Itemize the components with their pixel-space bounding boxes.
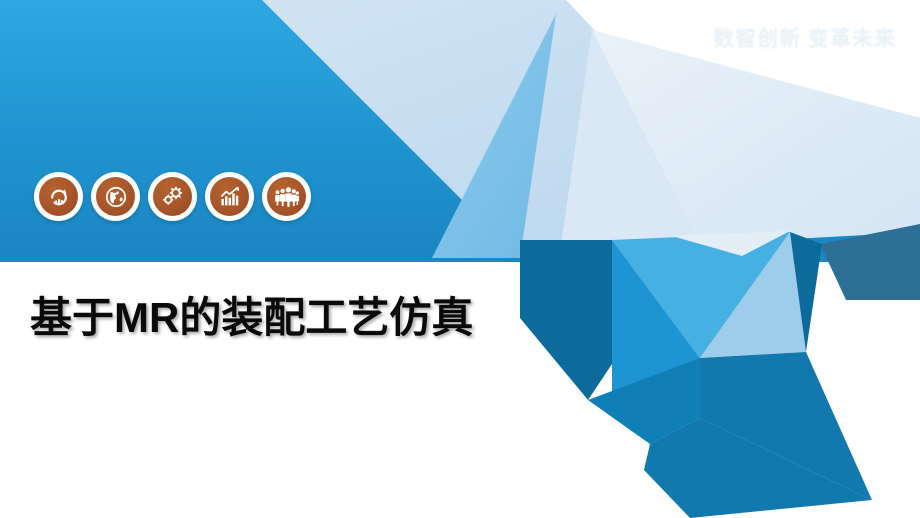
- tagline: 数智创新 变革未来: [713, 28, 896, 49]
- people-group-icon: [267, 177, 306, 216]
- decorative-background: [0, 0, 920, 518]
- page-title: 基于MR的装配工艺仿真: [30, 295, 473, 340]
- icon-badge-people-group[interactable]: [262, 172, 311, 221]
- refresh-growth-icon: [39, 177, 78, 216]
- icon-row: [34, 172, 311, 221]
- icon-badge-globe[interactable]: [91, 172, 140, 221]
- polygon-right-edge-strip: [846, 262, 920, 300]
- gears-icon: [153, 177, 192, 216]
- bar-chart-growth-icon: [210, 177, 249, 216]
- title-slide: 数智创新 变革未来: [0, 0, 920, 518]
- icon-badge-bar-chart-growth[interactable]: [205, 172, 254, 221]
- icon-badge-gears[interactable]: [148, 172, 197, 221]
- globe-icon: [96, 177, 135, 216]
- icon-badge-refresh-growth[interactable]: [34, 172, 83, 221]
